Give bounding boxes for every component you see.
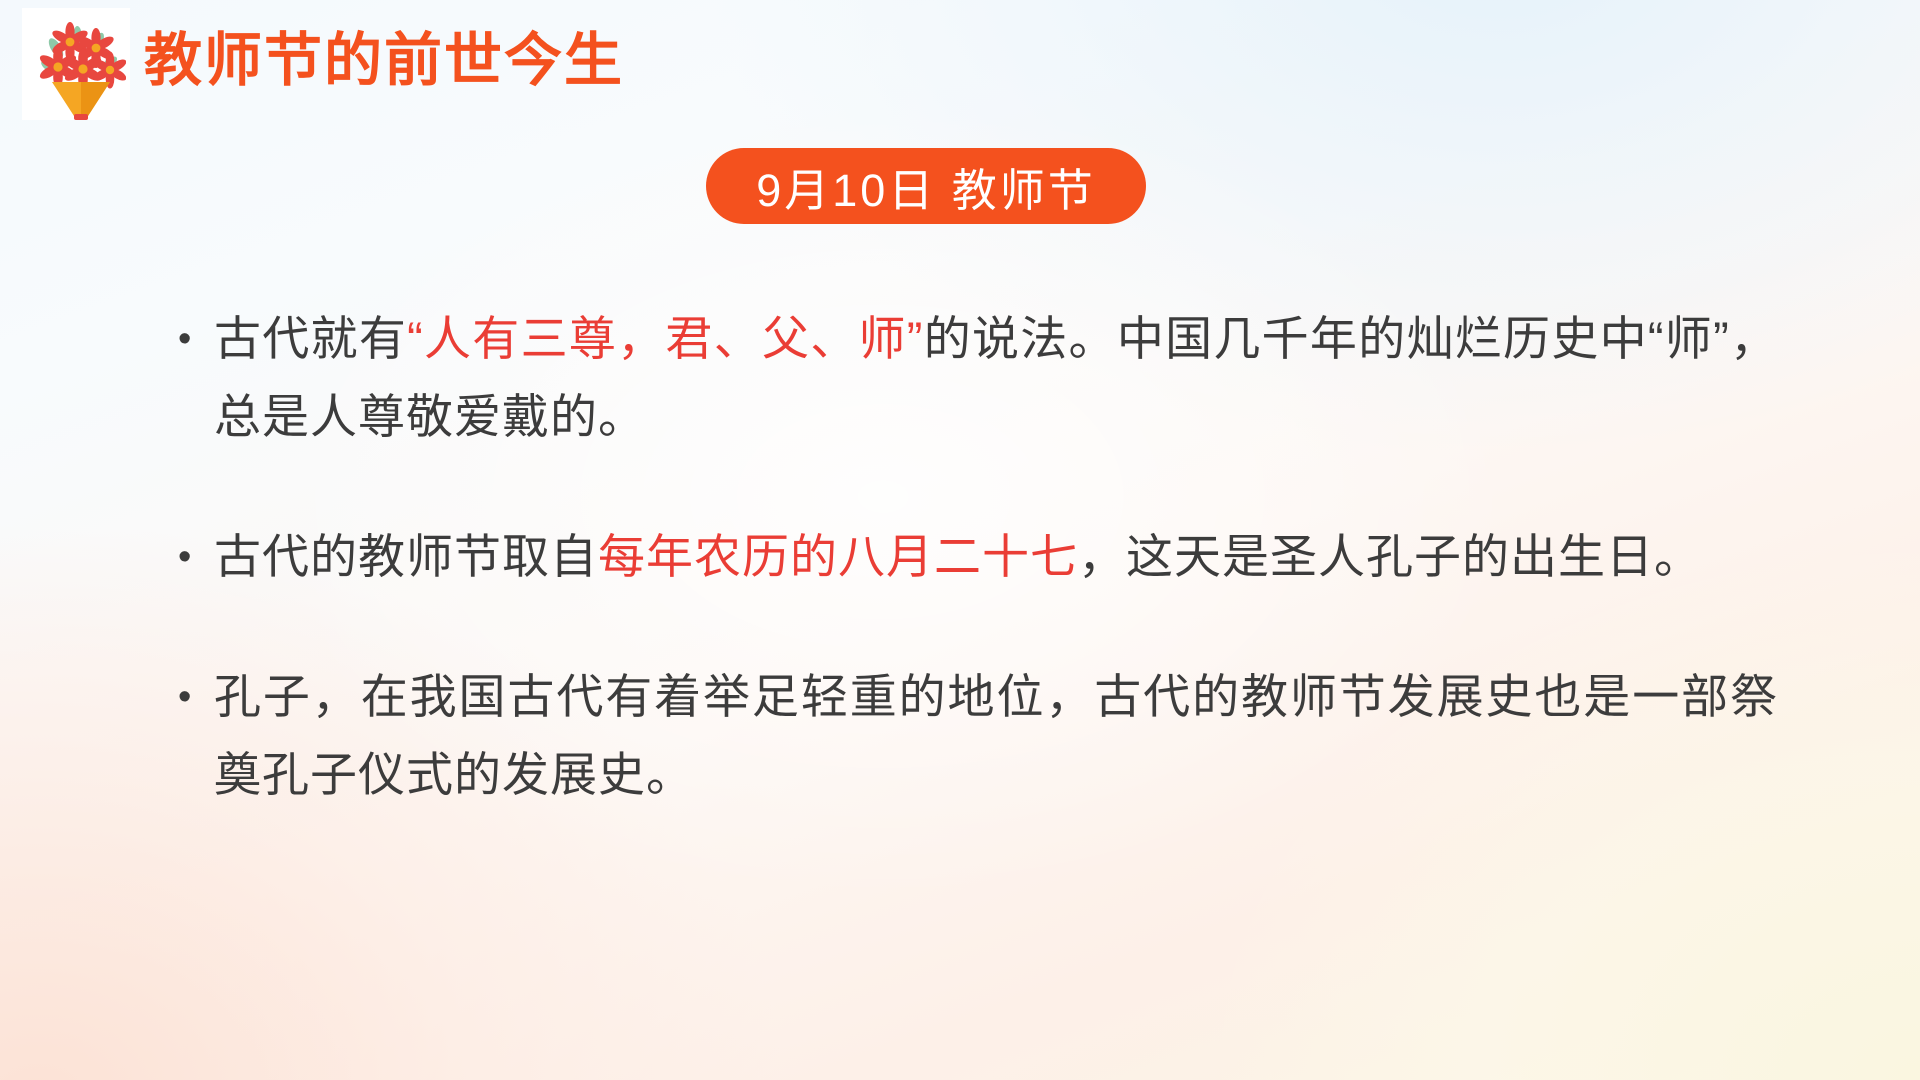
- body-phrase: 古代的教师节取自: [214, 530, 598, 583]
- highlighted-phrase: “人有三尊，君、父、师”: [407, 312, 923, 365]
- bullet-text: 古代就有“人有三尊，君、父、师”的说法。中国几千年的灿烂历史中“师”，总是人尊敬…: [214, 300, 1778, 456]
- bullet-marker-icon: •: [178, 300, 208, 378]
- flower-bouquet-icon: [26, 12, 126, 120]
- flower-bouquet-logo-card: [22, 8, 130, 120]
- slide-canvas: 教师节的前世今生 9月10日 教师节 •古代就有“人有三尊，君、父、师”的说法。…: [0, 0, 1920, 1080]
- highlighted-phrase: 每年农历的八月二十七: [598, 530, 1078, 583]
- bullet-item: •古代就有“人有三尊，君、父、师”的说法。中国几千年的灿烂历史中“师”，总是人尊…: [178, 300, 1778, 456]
- body-phrase: 孔子，在我国古代有着举足轻重的地位，古代的教师节发展史也是一部祭奠孔子仪式的发展…: [214, 670, 1778, 801]
- bullet-marker-icon: •: [178, 518, 208, 596]
- body-phrase: 古代就有: [214, 312, 407, 365]
- bullet-item: •古代的教师节取自每年农历的八月二十七，这天是圣人孔子的出生日。: [178, 518, 1778, 596]
- bullet-text: 孔子，在我国古代有着举足轻重的地位，古代的教师节发展史也是一部祭奠孔子仪式的发展…: [214, 658, 1778, 814]
- bullet-list: •古代就有“人有三尊，君、父、师”的说法。中国几千年的灿烂历史中“师”，总是人尊…: [178, 300, 1778, 814]
- date-badge: 9月10日 教师节: [706, 148, 1146, 224]
- slide-header: 教师节的前世今生: [22, 8, 624, 120]
- bullet-text: 古代的教师节取自每年农历的八月二十七，这天是圣人孔子的出生日。: [214, 518, 1778, 596]
- page-title: 教师节的前世今生: [144, 32, 624, 90]
- body-phrase: ，这天是圣人孔子的出生日。: [1078, 530, 1702, 583]
- bullet-marker-icon: •: [178, 658, 208, 736]
- bullet-item: •孔子，在我国古代有着举足轻重的地位，古代的教师节发展史也是一部祭奠孔子仪式的发…: [178, 658, 1778, 814]
